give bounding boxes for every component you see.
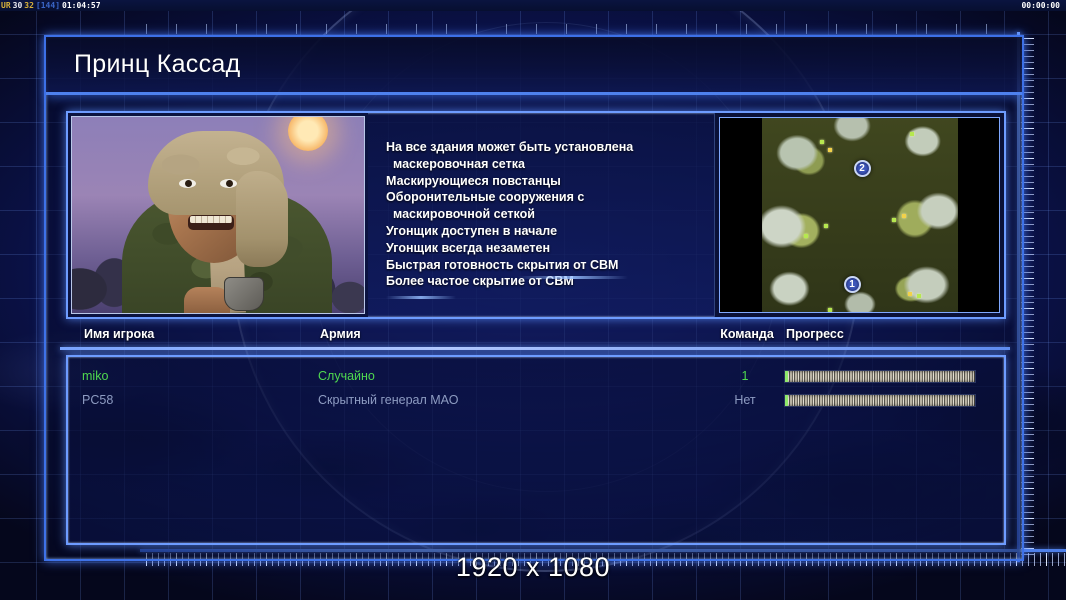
hud-stats-group: UR 30 32 [144] 01:04:57 — [0, 1, 101, 10]
player-team: 1 — [716, 369, 774, 383]
progress-bar — [784, 394, 976, 407]
hud-ur-label: UR — [1, 1, 11, 10]
general-portrait — [71, 116, 365, 314]
map-start-position-1[interactable]: 1 — [844, 276, 861, 293]
hud-bracket: [144] — [36, 1, 60, 10]
map-resource-dot — [820, 140, 824, 144]
title-bar: Принц Кассад — [46, 37, 1022, 95]
description-line: Быстрая готовность скрытия от СВМ — [386, 257, 714, 274]
player-name: PC58 — [82, 393, 113, 407]
resolution-label: 1920 x 1080 — [0, 552, 1066, 583]
map-resource-dot — [828, 148, 832, 152]
table-row[interactable]: mikoСлучайно1 — [68, 365, 1004, 389]
map-resource-dot — [902, 214, 906, 218]
decorative-bar-2 — [386, 296, 456, 299]
portrait-frame — [68, 113, 368, 317]
player-army: Скрытный генерал МАО — [318, 393, 458, 407]
description-line: маскеровочная сетка — [386, 156, 714, 173]
player-list-headers: Имя игрока Армия Команда Прогресс — [70, 327, 1002, 349]
main-panel: Принц Кассад — [44, 35, 1024, 561]
column-header-progress: Прогресс — [786, 327, 844, 341]
map-start-position-2[interactable]: 2 — [854, 160, 871, 177]
eye-right — [220, 179, 237, 188]
column-header-army: Армия — [320, 327, 361, 341]
canteen — [224, 277, 264, 311]
player-team: Нет — [716, 393, 774, 407]
column-header-name: Имя игрока — [84, 327, 154, 341]
description-line: Оборонительные сооружения с — [386, 189, 714, 206]
hud-value-1: 30 — [13, 1, 23, 10]
player-name: miko — [82, 369, 108, 383]
eye-left — [179, 179, 196, 188]
faction-info-panel: На все здания может быть установленамаск… — [66, 111, 1006, 319]
map-resource-dot — [804, 234, 808, 238]
map-resource-dot — [828, 308, 832, 312]
player-list-panel: mikoСлучайно1PC58Скрытный генерал МАОНет — [66, 355, 1006, 545]
description-line: Маскирующиеся повстанцы — [386, 173, 714, 190]
table-row[interactable]: PC58Скрытный генерал МАОНет — [68, 389, 1004, 413]
description-line: Угонщик доступен в начале — [386, 223, 714, 240]
description-line: Угонщик всегда незаметен — [386, 240, 714, 257]
sun-icon — [288, 116, 328, 151]
map-resource-dot — [892, 218, 896, 222]
map-preview[interactable]: 2 1 — [719, 117, 1000, 313]
map-resource-dot — [910, 132, 914, 136]
player-army: Случайно — [318, 369, 375, 383]
description-list: На все здания может быть установленамаск… — [386, 139, 714, 290]
description-line: маскировочной сеткой — [386, 206, 714, 223]
map-resource-dot — [908, 292, 912, 296]
hud-clock: 01:04:57 — [62, 1, 101, 10]
mouth — [188, 215, 234, 230]
decorative-bar-1 — [518, 276, 628, 279]
hud-value-2: 32 — [24, 1, 34, 10]
teeth — [190, 216, 232, 223]
top-hud-bar: UR 30 32 [144] 01:04:57 00:00:00 — [0, 0, 1066, 11]
column-header-team: Команда — [718, 327, 776, 341]
headers-divider — [60, 347, 1010, 350]
headwrap-drape — [236, 171, 288, 267]
progress-bar — [784, 370, 976, 383]
map-resource-dot — [917, 294, 921, 298]
map-resource-dot — [824, 224, 828, 228]
ruler-top — [146, 24, 996, 34]
page-title: Принц Кассад — [46, 50, 240, 79]
faction-description: На все здания может быть установленамаск… — [368, 113, 714, 317]
minimap-frame: 2 1 — [714, 113, 1004, 317]
hud-timer: 00:00:00 — [1021, 1, 1066, 10]
description-line: На все здания может быть установлена — [386, 139, 714, 156]
